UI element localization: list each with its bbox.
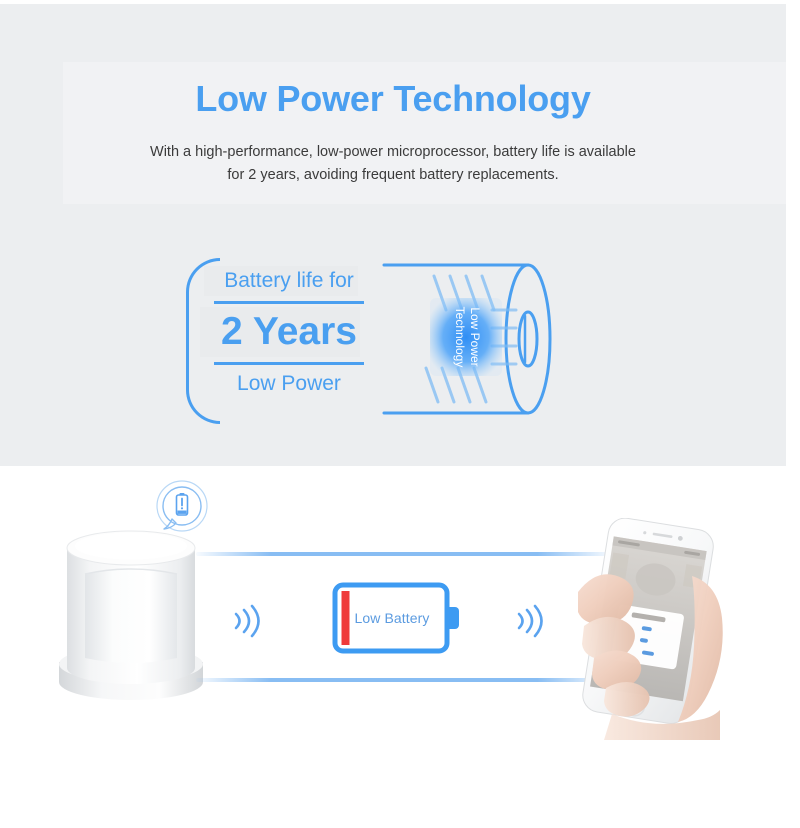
motion-sensor-device	[55, 522, 207, 712]
page-title: Low Power Technology	[0, 78, 786, 120]
chip-label-line-1: Low Power	[468, 307, 482, 366]
chip-label-line-2: Technology	[453, 307, 467, 368]
caption-rule-top	[214, 301, 364, 304]
page-subtitle: With a high-performance, low-power micro…	[0, 141, 786, 187]
chip-label: Low Power Technology	[453, 307, 482, 368]
caption-battery-life-for: Battery life for	[204, 266, 374, 296]
subtitle-line-1: With a high-performance, low-power micro…	[150, 144, 636, 160]
signal-wave-icon	[222, 598, 268, 644]
low-battery-label: Low Battery	[332, 582, 452, 654]
cylinder-battery-icon: Low Power Technology	[376, 254, 576, 424]
caption-rule-bottom	[214, 362, 364, 365]
caption-two-years: 2 Years	[204, 307, 374, 357]
caption-low-power: Low Power	[204, 368, 374, 400]
signal-channel-top-line	[196, 552, 612, 556]
page-root: Low Power Technology With a high-perform…	[0, 0, 800, 828]
battery-caption-stack: Battery life for 2 Years Low Power	[204, 266, 374, 400]
battery-illustration: Battery life for 2 Years Low Power	[180, 248, 580, 432]
signal-wave-icon	[505, 598, 551, 644]
subtitle-line-2: for 2 years, avoiding frequent battery r…	[0, 164, 786, 187]
signal-channel-bottom-line	[196, 678, 612, 682]
hand-holding-smartphone	[572, 518, 738, 740]
